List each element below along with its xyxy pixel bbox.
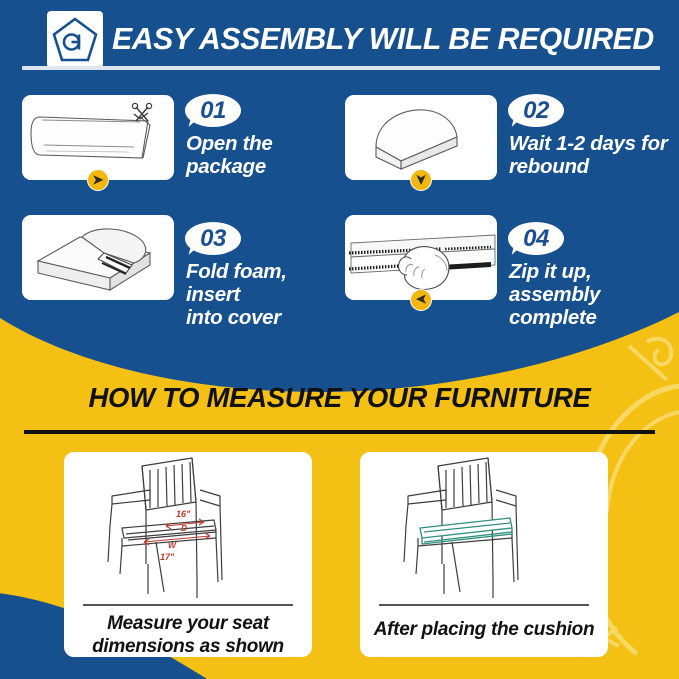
header: EASY ASSEMBLY WILL BE REQUIRED	[0, 0, 679, 82]
step-04-number: 04	[508, 222, 564, 255]
measure-section-title: HOW TO MEASURE YOUR FURNITURE	[0, 382, 679, 414]
infographic-page: EASY ASSEMBLY WILL BE REQUIRED ➤	[0, 0, 679, 679]
step-02-card: ➤	[345, 95, 497, 180]
step-03-illustration	[22, 215, 174, 300]
home-pentagon-icon	[51, 15, 99, 64]
step-01-card: ➤	[22, 95, 174, 180]
width-value-label: 17"	[160, 552, 175, 562]
step-04-illustration	[345, 215, 497, 300]
step-03-number: 03	[185, 222, 241, 255]
page-title: EASY ASSEMBLY WILL BE REQUIRED	[112, 15, 666, 63]
chair-with-cushion-illustration	[360, 452, 608, 604]
step-01-number-badge: 01	[185, 94, 245, 131]
step-01-illustration	[22, 95, 174, 180]
width-letter-label: W	[168, 540, 177, 550]
depth-value-label: 16"	[176, 509, 191, 519]
measure-section-divider	[24, 430, 655, 434]
step-02-number-badge: 02	[508, 94, 568, 131]
measure-card-2-divider	[379, 604, 589, 606]
step-04-label: Zip it up, assembly complete	[509, 260, 679, 329]
measure-card-1-divider	[83, 604, 293, 606]
measure-card-1-caption: Measure your seat dimensions as shown	[70, 612, 306, 657]
step-01-number: 01	[185, 94, 241, 127]
chair-with-dimensions-illustration: 16" D W 17"	[64, 452, 312, 604]
step-01-arrow-right-icon: ➤	[87, 169, 109, 191]
measure-card-1: 16" D W 17" Measure your seat dimensions…	[64, 452, 312, 657]
measure-card-2: After placing the cushion	[360, 452, 608, 657]
measure-card-2-caption: After placing the cushion	[366, 618, 602, 641]
step-01-label: Open the package	[186, 132, 336, 178]
step-03-card	[22, 215, 174, 300]
step-02-arrow-down-icon: ➤	[410, 169, 432, 191]
step-04-number-badge: 04	[508, 222, 568, 259]
step-02-number: 02	[508, 94, 564, 127]
step-02-illustration	[345, 95, 497, 180]
step-03-label: Fold foam, insert into cover	[186, 260, 346, 329]
step-04-arrow-left-icon: ➤	[410, 289, 432, 311]
header-divider	[22, 66, 660, 70]
brand-logo	[47, 11, 103, 68]
step-02-label: Wait 1-2 days for rebound	[509, 132, 679, 178]
step-04-card: ➤	[345, 215, 497, 300]
depth-letter-label: D	[181, 523, 187, 533]
step-03-number-badge: 03	[185, 222, 245, 259]
